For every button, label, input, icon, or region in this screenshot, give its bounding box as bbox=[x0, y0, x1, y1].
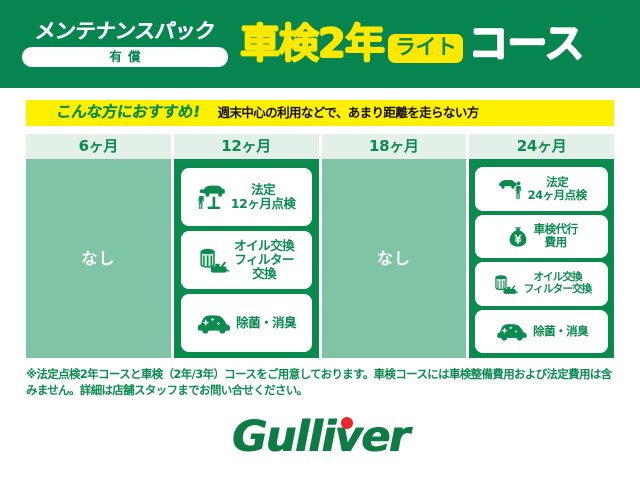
plan-table: 6ヶ月 なし 12ヶ月 bbox=[26, 134, 614, 358]
paid-badge-label: 有償 bbox=[103, 51, 146, 64]
headline-block: 車検2年 ライト コース bbox=[240, 24, 640, 64]
column-body-24m: 法定 24ヶ月点検 車検代行 費用 bbox=[469, 162, 614, 358]
car-sparkle-icon bbox=[196, 312, 232, 334]
column-header-label: 6ヶ月 bbox=[79, 139, 119, 154]
service-card-label: 除菌・消臭 bbox=[533, 325, 588, 338]
column-header-label: 12ヶ月 bbox=[221, 139, 271, 154]
column-header-12m: 12ヶ月 bbox=[174, 134, 319, 162]
recommend-banner: こんな方におすすめ! 週末中心の利用などで、あまり距離を走らない方 bbox=[26, 100, 614, 126]
no-service-label: なし bbox=[377, 251, 411, 267]
brand-logo: Gulliver bbox=[0, 412, 640, 462]
recommend-label: こんな方におすすめ! bbox=[55, 105, 201, 121]
service-card: 法定 24ヶ月点検 bbox=[475, 167, 608, 211]
column-body-18m: なし bbox=[322, 159, 467, 358]
car-lift-icon bbox=[497, 178, 524, 200]
column-body-6m: なし bbox=[26, 159, 171, 358]
money-bag-yen-icon bbox=[506, 224, 530, 248]
service-card-label: 法定 12ヶ月点検 bbox=[231, 183, 295, 211]
service-card: オイル交換 フィルター交換 bbox=[475, 262, 608, 306]
car-sparkle-icon bbox=[495, 321, 529, 341]
headline-shaken-2year: 車検2年 bbox=[240, 24, 384, 64]
service-card-label: 除菌・消臭 bbox=[236, 316, 296, 330]
oil-filter-icon bbox=[198, 246, 230, 274]
column-header-label: 18ヶ月 bbox=[369, 139, 419, 154]
plan-column-24m: 24ヶ月 bbox=[469, 134, 614, 358]
plan-column-12m: 12ヶ月 bbox=[174, 134, 319, 358]
service-card-label: オイル交換 フィルター交換 bbox=[524, 272, 592, 296]
footnote-text: ※法定点検2年コースと車検（2年/3年）コースをご用意しております。車検コースに… bbox=[26, 366, 620, 398]
service-card-label: オイル交換 フィルター 交換 bbox=[234, 239, 294, 281]
column-header-label: 24ヶ月 bbox=[517, 139, 567, 154]
column-header-6m: 6ヶ月 bbox=[26, 134, 171, 159]
column-header-18m: 18ヶ月 bbox=[322, 134, 467, 159]
service-card-list-24m: 法定 24ヶ月点検 車検代行 費用 bbox=[469, 162, 614, 358]
oil-filter-icon bbox=[492, 273, 520, 295]
car-lift-icon bbox=[197, 184, 227, 210]
service-card-label: 車検代行 費用 bbox=[534, 223, 578, 249]
maintenance-pack-block: メンテナンスパック 有償 bbox=[14, 21, 236, 68]
gulliver-logo-dot-icon bbox=[341, 417, 353, 429]
gulliver-logo-text: Gulliver bbox=[232, 416, 409, 459]
no-service-cell: なし bbox=[26, 159, 171, 358]
no-service-cell: なし bbox=[322, 159, 467, 358]
service-card: 法定 12ヶ月点検 bbox=[181, 168, 312, 226]
maintenance-pack-title: メンテナンスパック bbox=[34, 21, 216, 42]
no-service-label: なし bbox=[81, 251, 115, 267]
header-band: メンテナンスパック 有償 車検2年 ライト コース bbox=[0, 0, 640, 88]
column-header-24m: 24ヶ月 bbox=[469, 134, 614, 162]
paid-badge-pill: 有償 bbox=[22, 47, 228, 67]
column-body-12m: 法定 12ヶ月点検 bbox=[174, 162, 319, 358]
plan-column-18m: 18ヶ月 なし bbox=[322, 134, 467, 358]
service-card: オイル交換 フィルター 交換 bbox=[181, 231, 312, 289]
recommend-text: 週末中心の利用などで、あまり距離を走らない方 bbox=[218, 107, 479, 120]
plan-column-6m: 6ヶ月 なし bbox=[26, 134, 171, 358]
service-card-label: 法定 24ヶ月点検 bbox=[528, 176, 587, 202]
service-card: 車検代行 費用 bbox=[475, 215, 608, 259]
headline-course: コース bbox=[468, 24, 583, 64]
service-card: 除菌・消臭 bbox=[181, 294, 312, 352]
service-card: 除菌・消臭 bbox=[475, 310, 608, 354]
maintenance-pack-poster: メンテナンスパック 有償 車検2年 ライト コース こんな方におすすめ! 週末中… bbox=[0, 0, 640, 480]
headline-lite-badge: ライト bbox=[388, 34, 464, 63]
service-card-list-12m: 法定 12ヶ月点検 bbox=[174, 162, 319, 358]
